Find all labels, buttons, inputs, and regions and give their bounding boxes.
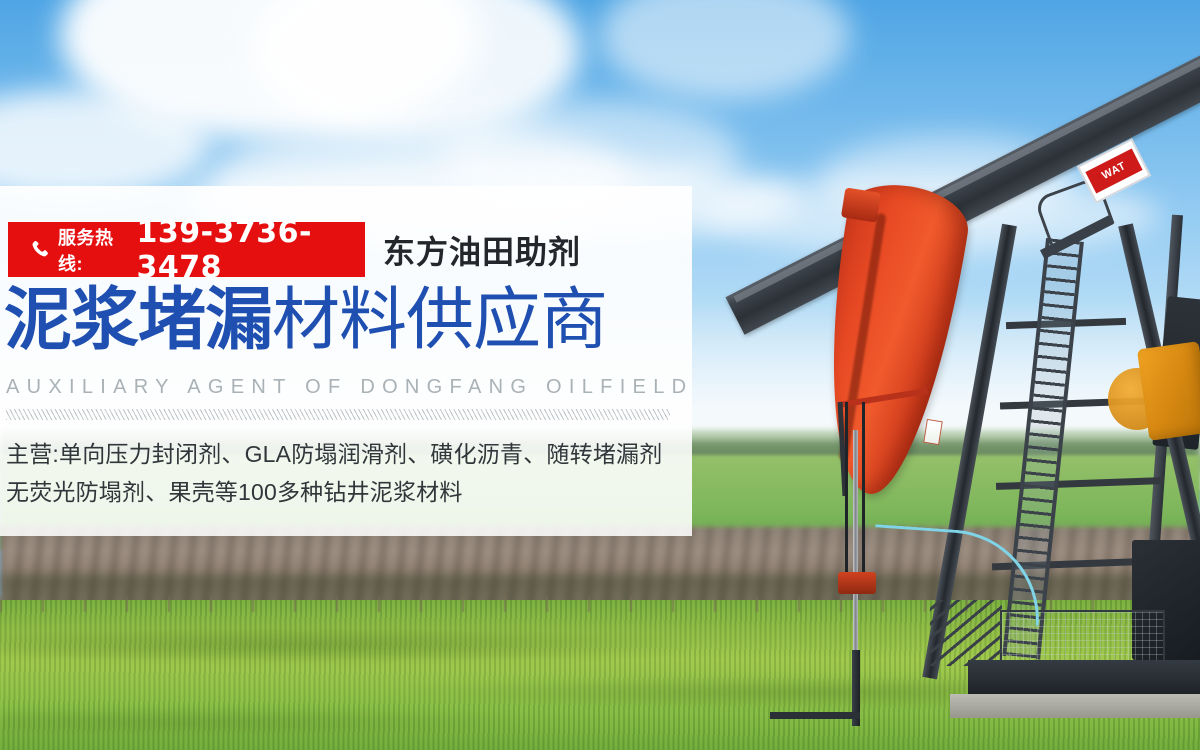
phone-handset-icon	[30, 239, 52, 261]
description-block: 主营:单向压力封闭剂、GLA防塌润滑剂、磺化沥青、随转堵漏剂 无荧光防塌剂、果壳…	[6, 436, 662, 512]
rig-walking-beam	[725, 43, 1200, 335]
headline-subtitle: AUXILIARY AGENT OF DONGFANG OILFIELD	[6, 376, 693, 399]
rig-horsehead	[805, 177, 974, 502]
hotline-number: 139-3736-3478	[136, 215, 365, 285]
hotline-label: 服务热线:	[58, 224, 128, 276]
rig-polished-rod	[853, 430, 858, 650]
description-line: 主营:单向压力封闭剂、GLA防塌润滑剂、磺化沥青、随转堵漏剂	[6, 436, 662, 474]
rig-cable-right	[862, 402, 865, 572]
text-overlay-panel: 服务热线: 139-3736-3478 东方油田助剂 泥浆堵漏材料供应商 AUX…	[0, 186, 692, 536]
rig-horsehead-top	[841, 187, 881, 222]
hatched-divider	[6, 409, 670, 420]
wellhead-flowline	[770, 712, 860, 719]
rig-cable-left	[845, 402, 848, 572]
description-line: 无荧光防塌剂、果壳等100多种钻井泥浆材料	[6, 474, 662, 512]
hero-banner: WAT	[0, 0, 1200, 750]
hotline-badge[interactable]: 服务热线: 139-3736-3478	[8, 222, 365, 277]
rig-concrete-pad	[950, 694, 1200, 718]
headline-emphasis: 泥浆堵漏	[4, 282, 272, 358]
headline: 泥浆堵漏材料供应商	[4, 286, 607, 354]
rig-horsehead-plate	[923, 419, 943, 445]
rig-base-frame	[968, 660, 1200, 696]
brand-name: 东方油田助剂	[383, 222, 581, 277]
headline-rest: 材料供应商	[272, 282, 607, 358]
